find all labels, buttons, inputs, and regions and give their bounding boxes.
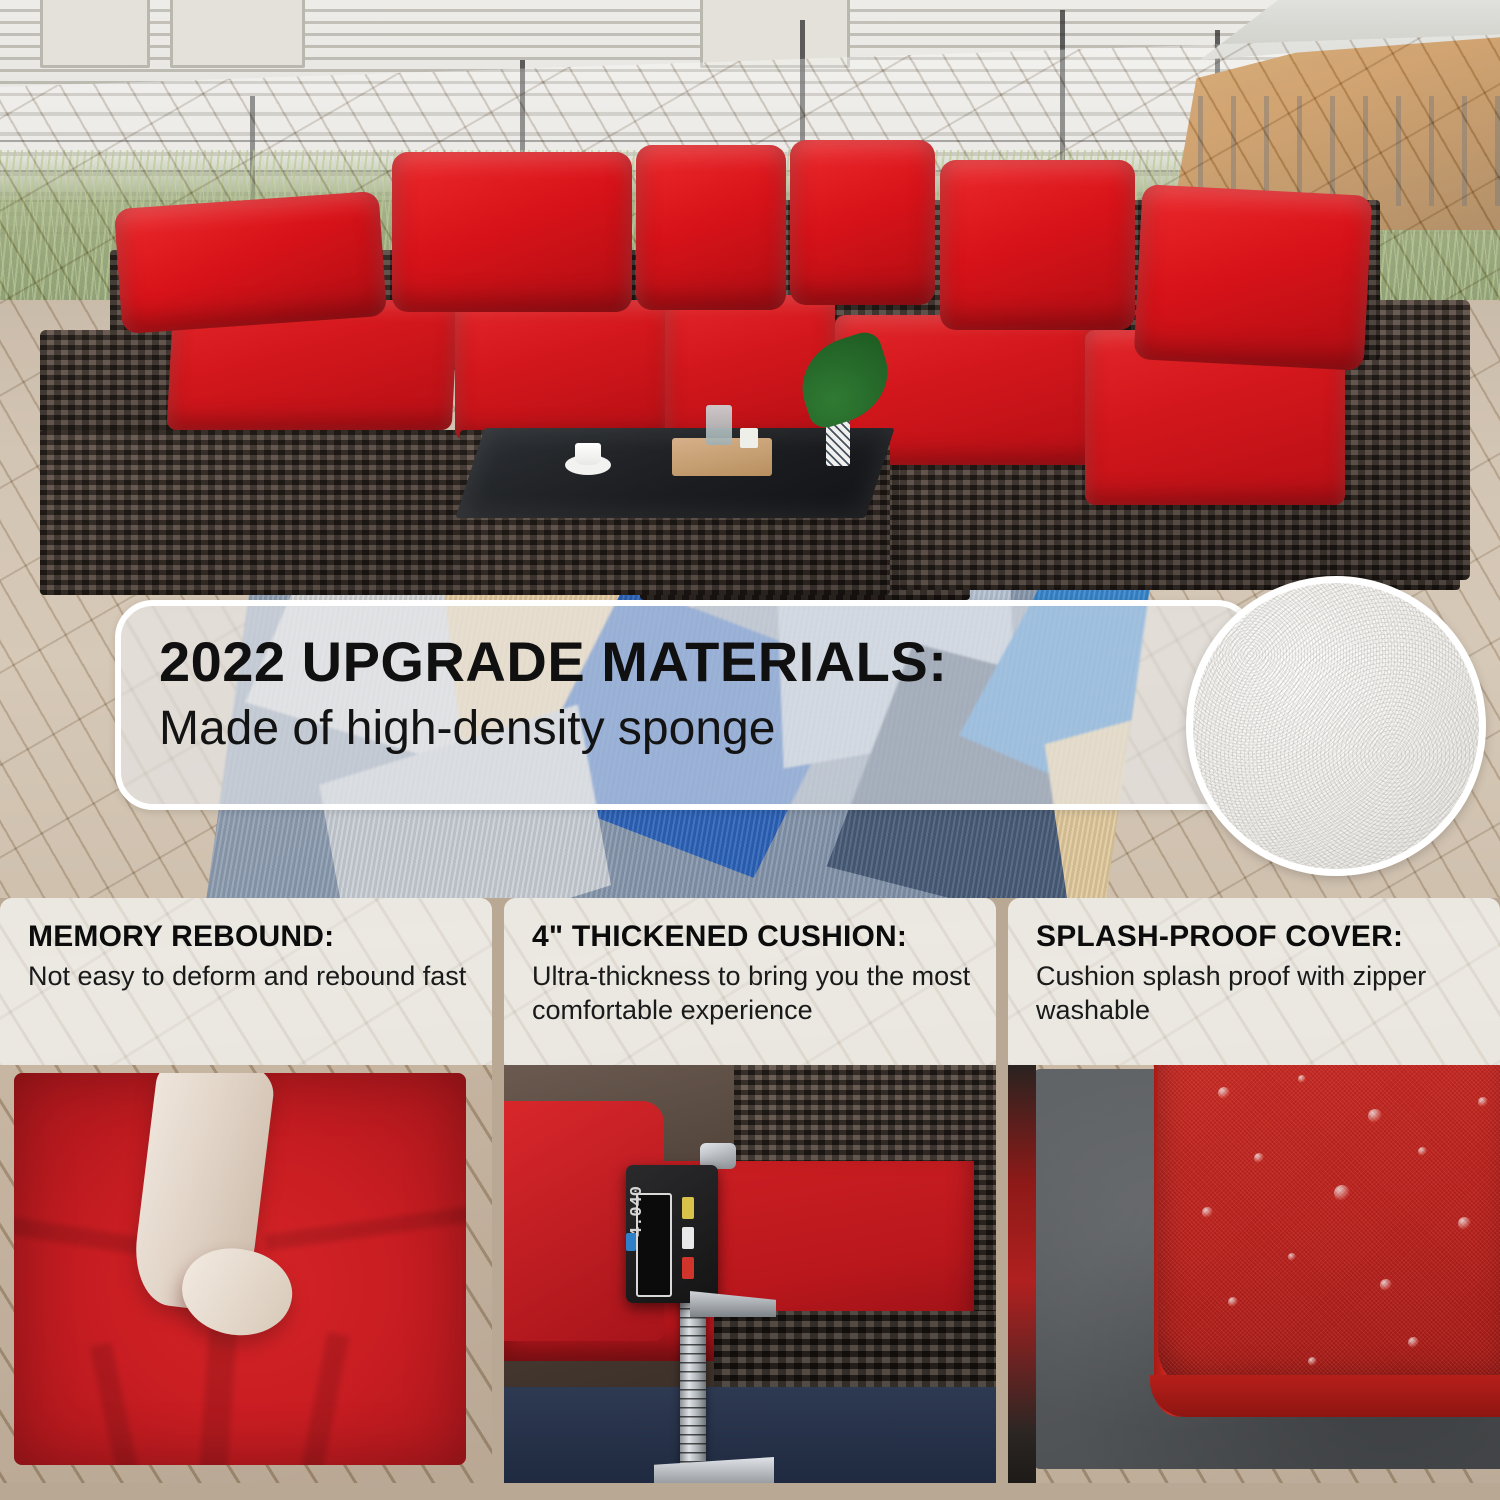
- feature-header: 4" THICKENED CUSHION: Ultra-thickness to…: [504, 898, 996, 1065]
- feature-header: SPLASH-PROOF COVER: Cushion splash proof…: [1008, 898, 1500, 1065]
- red-splash-proof-cover: [1158, 1065, 1500, 1395]
- feature-body: Ultra-thickness to bring you the most co…: [532, 959, 980, 1028]
- banner-headline: 2022 UPGRADE MATERIALS:: [159, 632, 1229, 692]
- feature-column-memory-rebound: MEMORY REBOUND: Not easy to deform and r…: [0, 898, 492, 1500]
- caliper-off-button[interactable]: [682, 1257, 694, 1279]
- feature-columns: MEMORY REBOUND: Not easy to deform and r…: [0, 898, 1500, 1500]
- wall-panel: [40, 0, 150, 68]
- adjacent-cushion-strip: [1008, 1065, 1036, 1483]
- back-pillow: [636, 145, 786, 310]
- glass-candle-holder: [706, 405, 732, 445]
- banner-subheadline: Made of high-density sponge: [159, 702, 1229, 756]
- feature-column-thickened-cushion: 4" THICKENED CUSHION: Ultra-thickness to…: [504, 898, 996, 1500]
- feature-body: Cushion splash proof with zipper washabl…: [1036, 959, 1484, 1028]
- feature-photo-water-beads: [1008, 1065, 1500, 1483]
- feature-title: 4" THICKENED CUSHION:: [532, 920, 980, 955]
- pillar-candle: [740, 428, 758, 448]
- seat-cushion: [455, 300, 670, 440]
- cover-hem-zipper-edge: [1150, 1375, 1500, 1417]
- caliper-zero-button[interactable]: [682, 1197, 694, 1219]
- caliper-unit-button[interactable]: [626, 1233, 636, 1251]
- feature-body: Not easy to deform and rebound fast: [28, 959, 476, 994]
- feature-title: SPLASH-PROOF COVER:: [1036, 920, 1484, 955]
- feature-header: MEMORY REBOUND: Not easy to deform and r…: [0, 898, 492, 1065]
- red-cushion: [14, 1073, 466, 1465]
- feature-title: MEMORY REBOUND:: [28, 920, 476, 955]
- back-pillow: [114, 191, 387, 334]
- feature-column-splash-proof: SPLASH-PROOF COVER: Cushion splash proof…: [1008, 898, 1500, 1500]
- feature-photo-hand-press: [0, 1065, 492, 1483]
- sponge-closeup-circle: [1186, 576, 1486, 876]
- back-pillow: [1134, 184, 1373, 371]
- product-infographic: 2022 UPGRADE MATERIALS: Made of high-den…: [0, 0, 1500, 1500]
- upgrade-materials-banner: 2022 UPGRADE MATERIALS: Made of high-den…: [115, 600, 1255, 810]
- feature-photo-caliper: 4.040: [504, 1065, 996, 1483]
- back-pillow: [940, 160, 1135, 330]
- back-pillow: [392, 152, 632, 312]
- coffee-cup: [575, 443, 601, 465]
- wall-panel: [170, 0, 305, 68]
- caliper-on-button[interactable]: [682, 1227, 694, 1249]
- caliper-lcd-display: 4.040: [636, 1193, 672, 1297]
- back-pillow: [790, 140, 935, 305]
